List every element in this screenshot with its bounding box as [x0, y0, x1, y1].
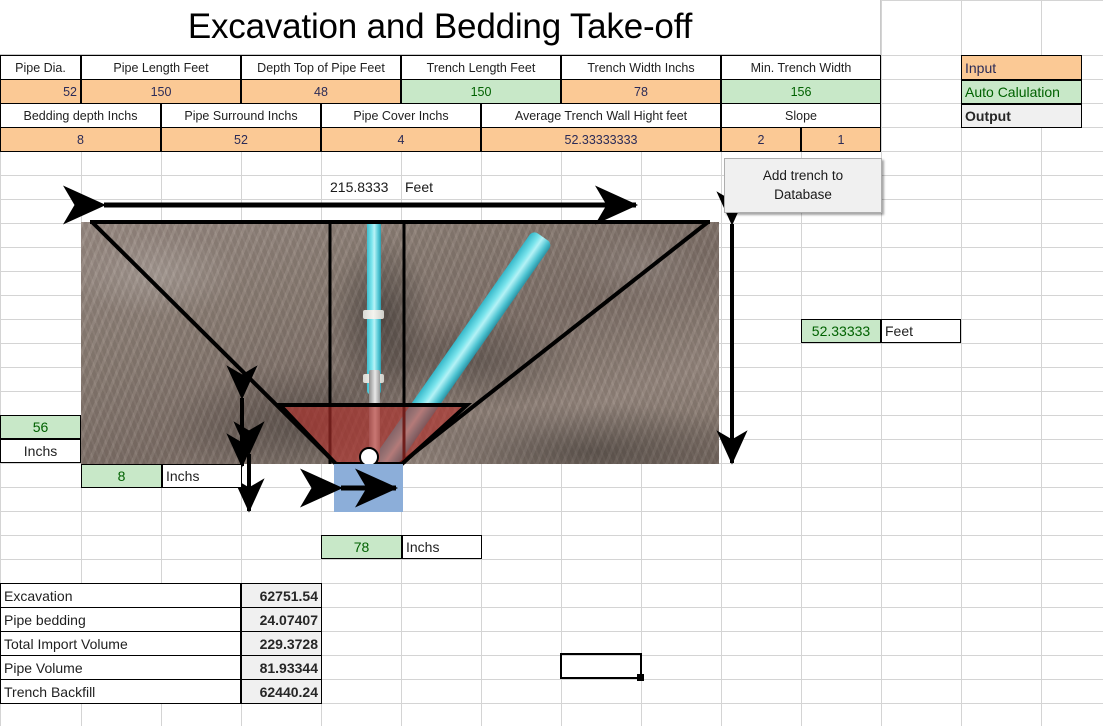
value-trench-width[interactable]: 78 [561, 79, 721, 104]
header-pipe-length: Pipe Length Feet [81, 55, 241, 80]
trench-width-block [334, 464, 403, 512]
value-trench-length[interactable]: 150 [401, 79, 561, 104]
pipe-collar-upper [363, 310, 384, 319]
header-trench-length: Trench Length Feet [401, 55, 561, 80]
output-label-pipe-volume: Pipe Volume [0, 655, 241, 680]
page-title: Excavation and Bedding Take-off [0, 0, 881, 55]
header-bedding-depth: Bedding depth Inchs [0, 103, 161, 128]
top-width-label: 215.8333 [330, 179, 388, 195]
surround-unit-cell: Inchs [0, 439, 81, 463]
value-depth-top-of-pipe[interactable]: 48 [241, 79, 401, 104]
surround-value-cell[interactable]: 56 [0, 415, 81, 439]
value-bedding-depth[interactable]: 8 [0, 127, 161, 152]
trench-width-value-cell[interactable]: 78 [321, 535, 402, 559]
output-value-pipe-bedding: 24.07407 [241, 607, 322, 632]
header-slope: Slope [721, 103, 881, 128]
header-trench-width: Trench Width Inchs [561, 55, 721, 80]
output-value-pipe-volume: 81.93344 [241, 655, 322, 680]
value-pipe-dia[interactable]: 52 [0, 79, 81, 104]
value-slope-run[interactable]: 2 [721, 127, 801, 152]
top-width-unit: Feet [405, 179, 433, 195]
bedding-unit-cell: Inchs [162, 464, 242, 488]
output-value-total-import-volume: 229.3728 [241, 631, 322, 656]
depth-value-cell[interactable]: 52.33333 [801, 319, 881, 343]
value-pipe-cover[interactable]: 4 [321, 127, 481, 152]
header-depth-top-of-pipe: Depth Top of Pipe Feet [241, 55, 401, 80]
output-value-trench-backfill: 62440.24 [241, 679, 322, 704]
output-value-excavation: 62751.54 [241, 583, 322, 608]
value-average-trench-wall-height[interactable]: 52.33333333 [481, 127, 721, 152]
active-cell-selection[interactable] [560, 653, 642, 679]
bedding-value-cell[interactable]: 8 [81, 464, 162, 488]
value-pipe-length[interactable]: 150 [81, 79, 241, 104]
legend-input: Input [961, 55, 1082, 80]
output-label-trench-backfill: Trench Backfill [0, 679, 241, 704]
value-min-trench-width[interactable]: 156 [721, 79, 881, 104]
fill-handle[interactable] [637, 674, 644, 681]
pipe-lower-section [369, 370, 380, 464]
output-label-total-import-volume: Total Import Volume [0, 631, 241, 656]
header-pipe-dia: Pipe Dia. [0, 55, 81, 80]
output-label-pipe-bedding: Pipe bedding [0, 607, 241, 632]
vertical-pipe [367, 222, 381, 394]
output-label-excavation: Excavation [0, 583, 241, 608]
depth-unit-cell: Feet [881, 319, 961, 343]
header-pipe-cover: Pipe Cover Inchs [321, 103, 481, 128]
add-button-line2: Database [774, 187, 832, 202]
trench-photo [81, 222, 719, 464]
header-min-trench-width: Min. Trench Width [721, 55, 881, 80]
add-trench-to-database-button[interactable]: Add trench to Database [724, 158, 882, 213]
legend-output: Output [961, 104, 1082, 128]
header-average-trench-wall-height: Average Trench Wall Hight feet [481, 103, 721, 128]
value-pipe-surround[interactable]: 52 [161, 127, 321, 152]
trench-width-unit-cell: Inchs [402, 535, 482, 559]
spreadsheet-canvas[interactable]: Excavation and Bedding Take-off Input Au… [0, 0, 1103, 726]
add-button-line1: Add trench to [763, 168, 843, 183]
legend-auto-calculation: Auto Calulation [961, 80, 1082, 104]
value-slope-rise[interactable]: 1 [801, 127, 881, 152]
header-pipe-surround: Pipe Surround Inchs [161, 103, 321, 128]
